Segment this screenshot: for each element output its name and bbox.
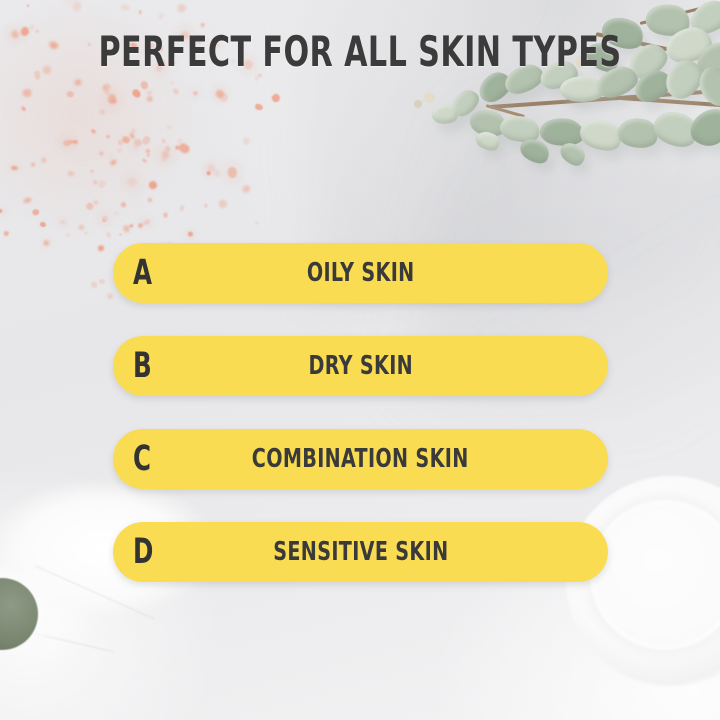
option-pill-a[interactable]: A OILY SKIN [113, 243, 608, 303]
option-pill-b[interactable]: B DRY SKIN [113, 336, 608, 396]
option-label-a: OILY SKIN [113, 243, 608, 303]
option-label-b: DRY SKIN [113, 336, 608, 396]
slide-canvas: PERFECT FOR ALL SKIN TYPES A OILY SKIN B… [0, 0, 720, 720]
option-pill-d[interactable]: D SENSITIVE SKIN [113, 522, 608, 582]
option-label-c: COMBINATION SKIN [113, 429, 608, 489]
option-label-d: SENSITIVE SKIN [113, 522, 608, 582]
page-title: PERFECT FOR ALL SKIN TYPES [72, 29, 648, 75]
option-pill-c[interactable]: C COMBINATION SKIN [113, 429, 608, 489]
